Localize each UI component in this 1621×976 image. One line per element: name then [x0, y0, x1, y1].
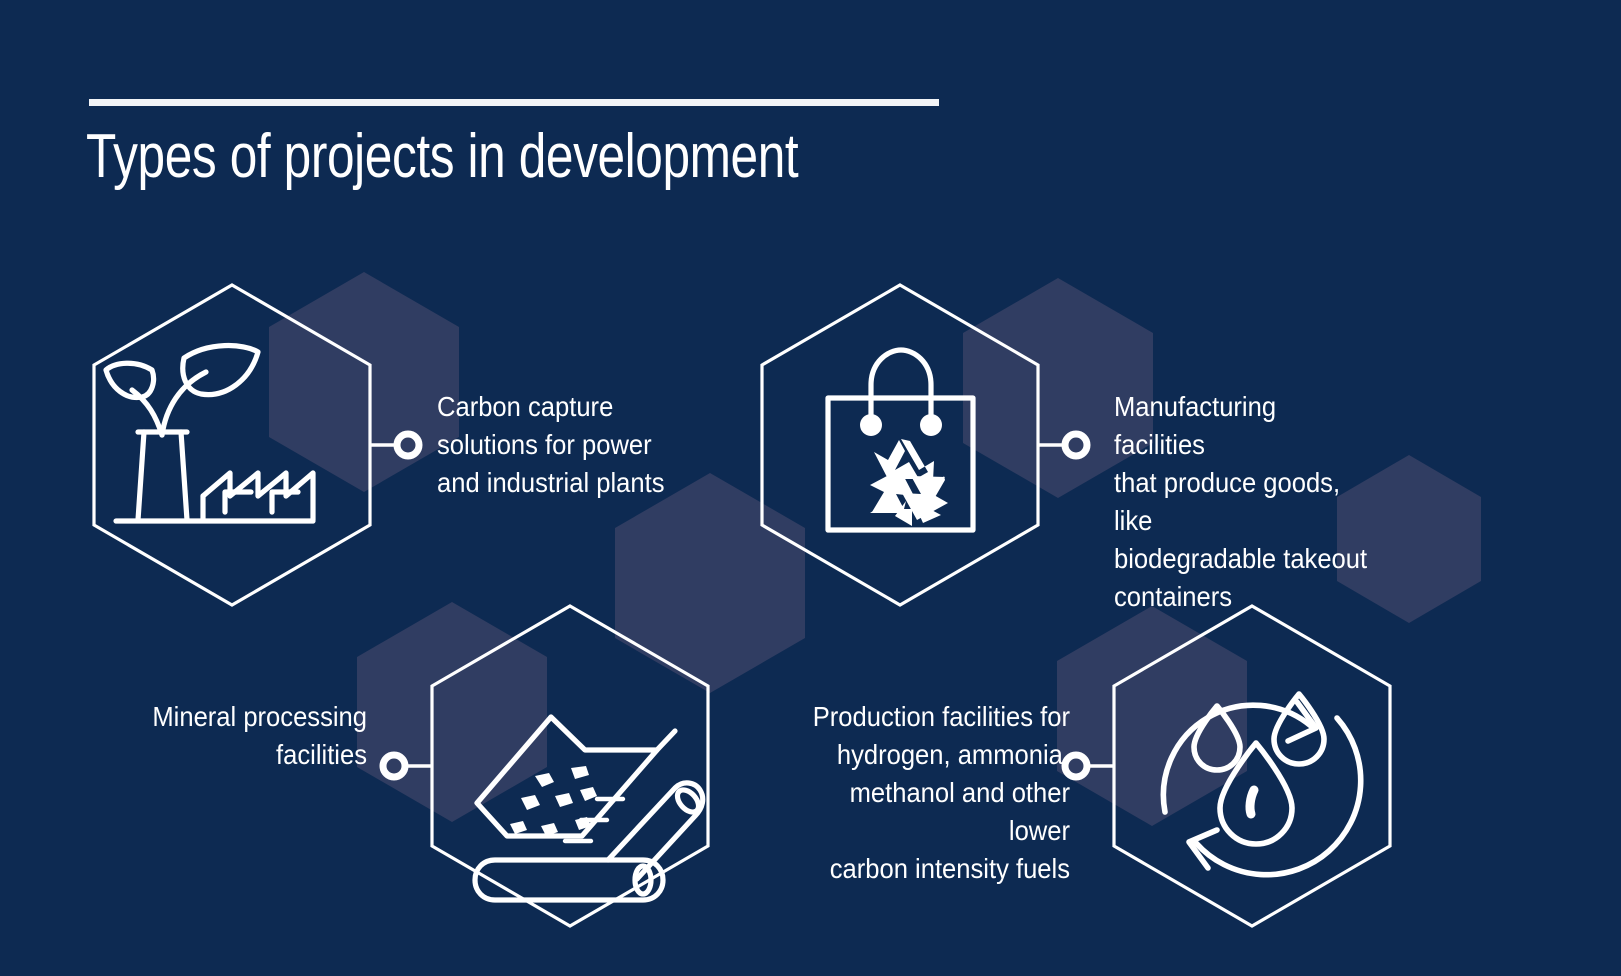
- connector-node: [397, 434, 419, 456]
- label-mineral-processing: Mineral processing facilities: [125, 698, 367, 774]
- label-line: facilities: [125, 736, 367, 774]
- hex-cell-manufacturing[interactable]: [748, 280, 1093, 610]
- page-title: Types of projects in development: [86, 118, 798, 196]
- recycle-symbol-icon: [870, 439, 948, 526]
- label-lower-carbon-fuels: Production facilities for hydrogen, ammo…: [791, 698, 1070, 888]
- hex-cell-mineral-processing[interactable]: [375, 598, 715, 943]
- label-line: Production facilities for: [791, 698, 1070, 736]
- label-manufacturing: Manufacturing facilities that produce go…: [1114, 388, 1370, 616]
- hex-cell-carbon-capture[interactable]: [80, 280, 425, 610]
- bag-handle-dot: [920, 414, 942, 436]
- label-line: hydrogen, ammonia,: [791, 736, 1070, 774]
- mineral-chunks: [510, 766, 597, 836]
- conveyor-belt-minerals-icon: [475, 717, 703, 900]
- label-carbon-capture: Carbon capture solutions for power and i…: [437, 388, 665, 502]
- title-rule: [89, 99, 939, 106]
- label-line: Manufacturing facilities: [1114, 388, 1370, 464]
- label-line: solutions for power: [437, 426, 665, 464]
- label-line: carbon intensity fuels: [791, 850, 1070, 888]
- infographic-slide: Types of projects in development: [0, 0, 1621, 976]
- shopping-bag-recycle-icon: [828, 350, 973, 530]
- label-line: Carbon capture: [437, 388, 665, 426]
- label-line: methanol and other lower: [791, 774, 1070, 850]
- connector-node: [383, 755, 405, 777]
- label-line: Mineral processing: [125, 698, 367, 736]
- hexagon-outline: [1114, 606, 1390, 926]
- connector-node: [1065, 434, 1087, 456]
- label-line: and industrial plants: [437, 464, 665, 502]
- label-line: that produce goods, like: [1114, 464, 1370, 540]
- water-drops-cycle-icon: [1163, 694, 1360, 875]
- hex-cell-lower-carbon-fuels[interactable]: [1057, 598, 1402, 943]
- bag-handle-dot: [860, 414, 882, 436]
- hexagon-outline: [94, 285, 370, 605]
- label-line: biodegradable takeout: [1114, 540, 1370, 578]
- factory-with-leaves-icon: [106, 346, 313, 521]
